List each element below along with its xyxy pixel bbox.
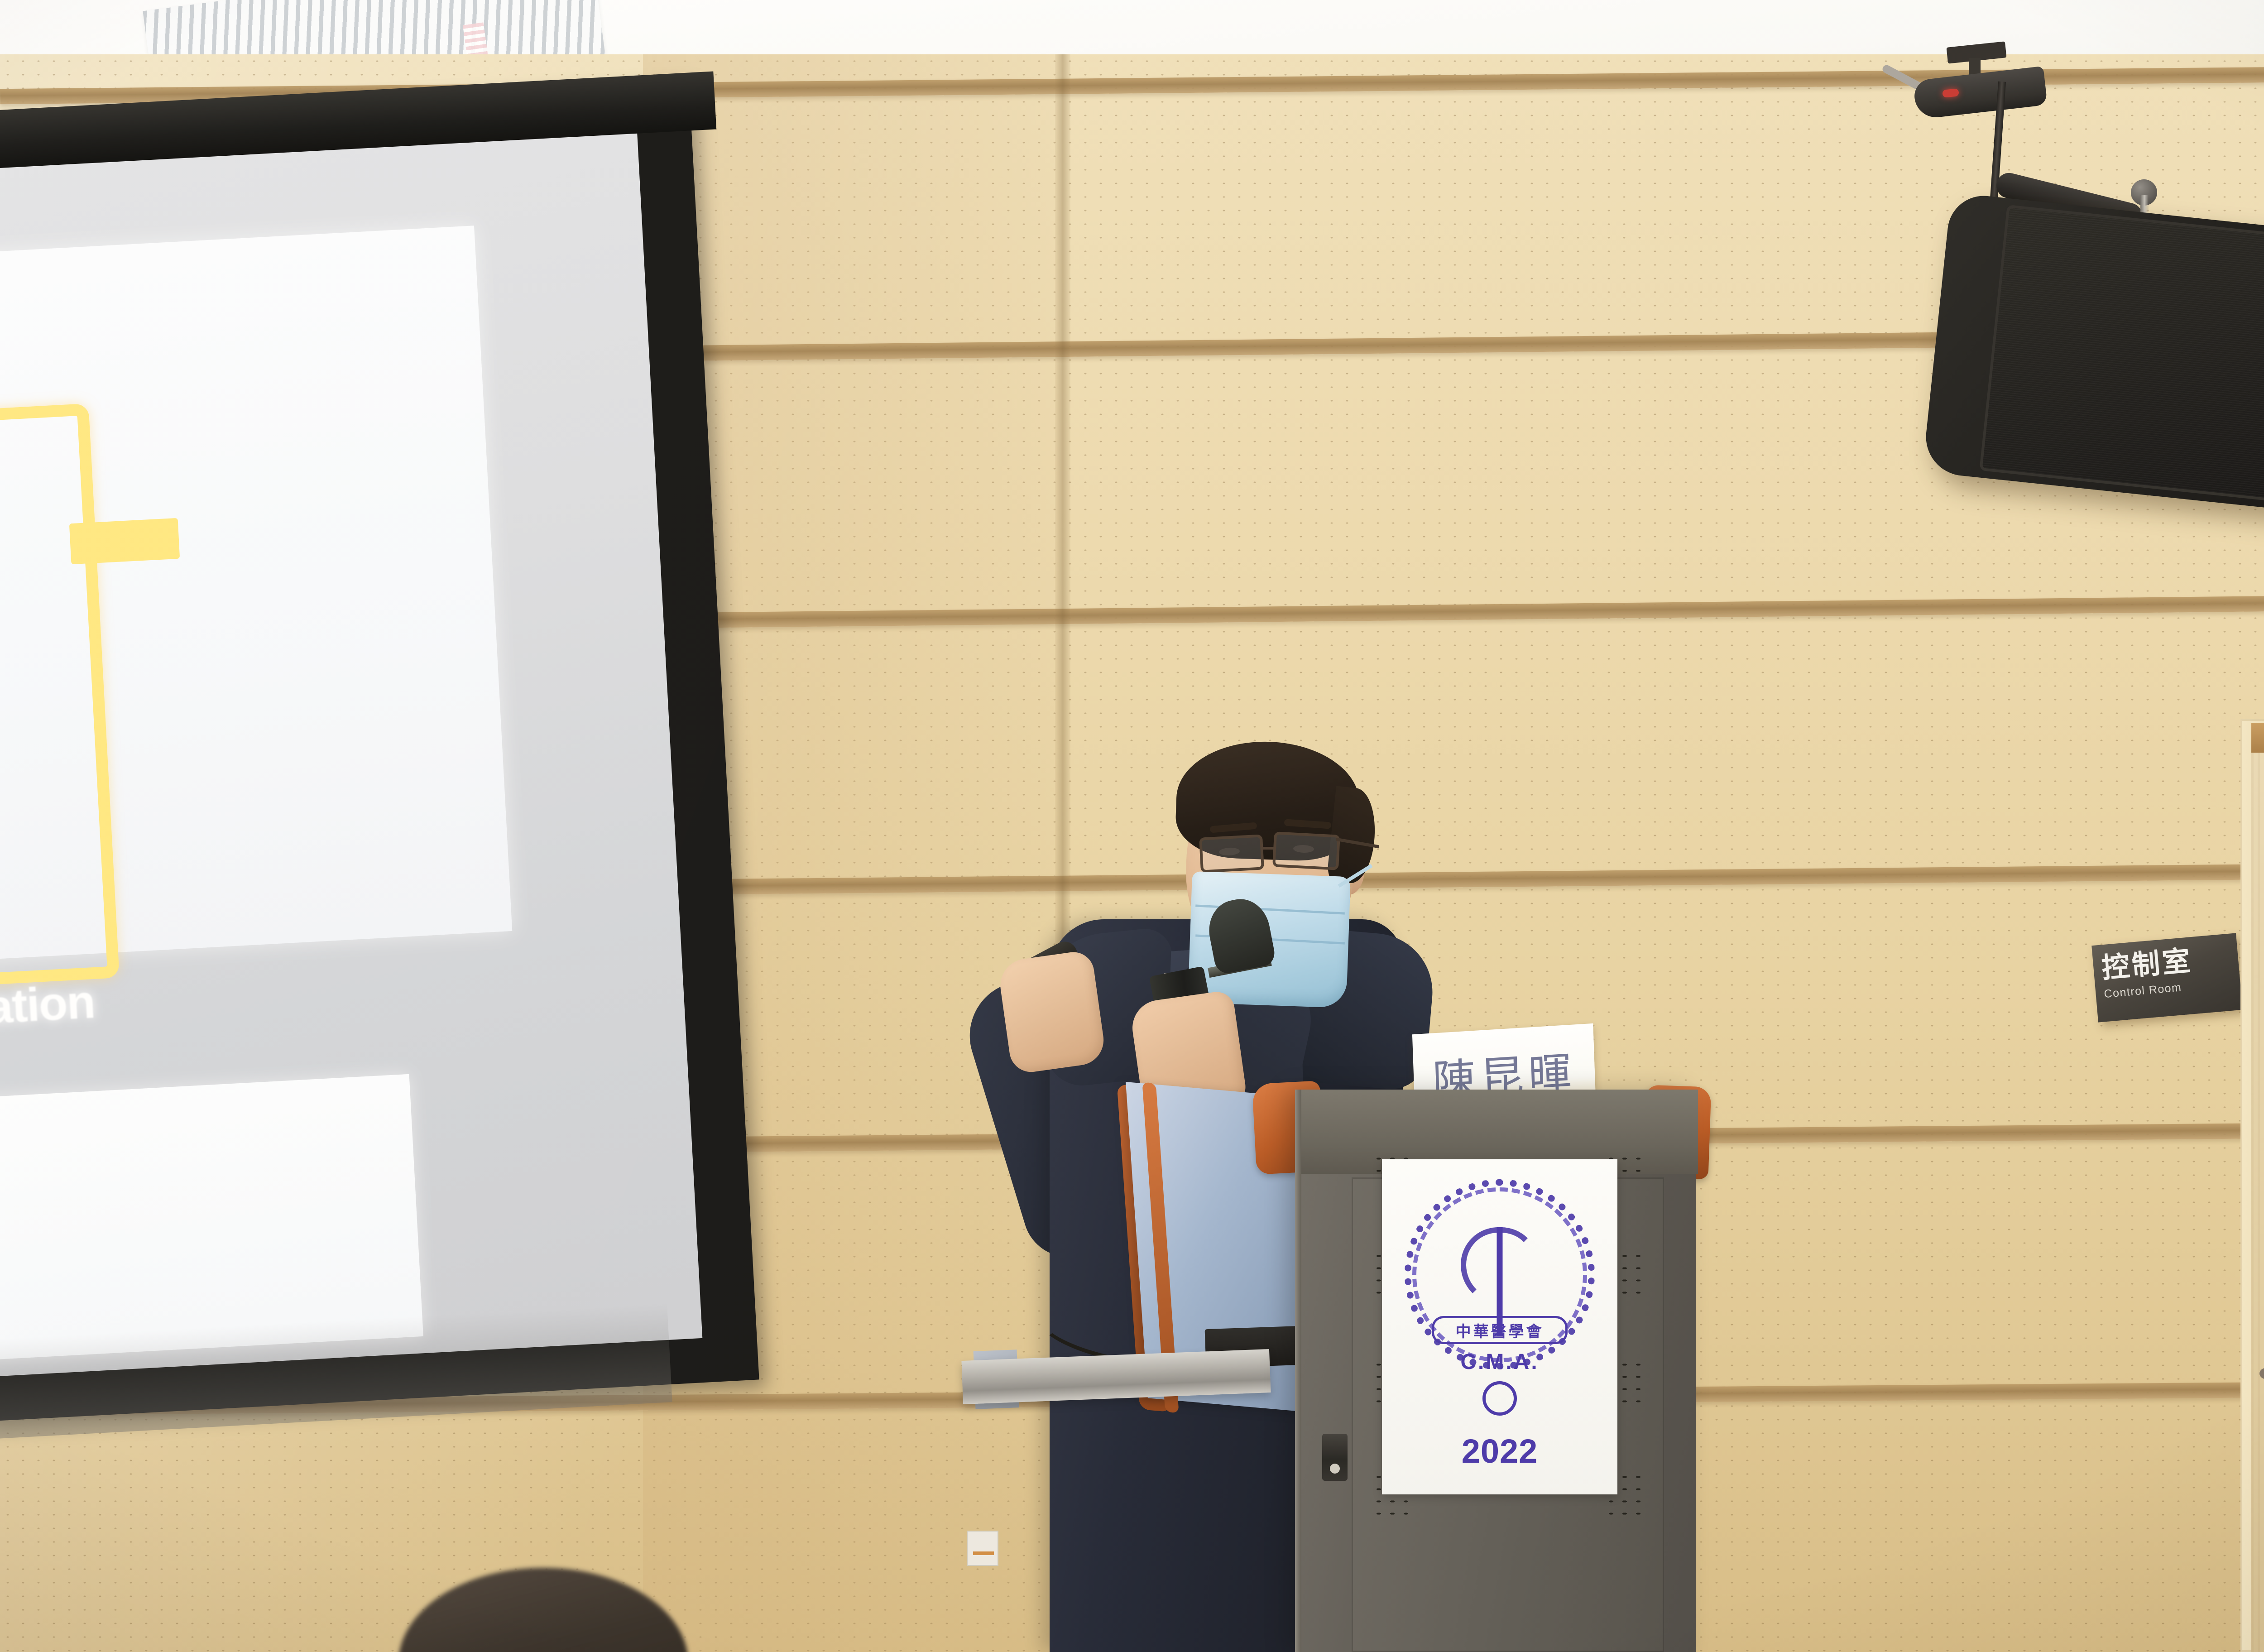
door-header-trim: [2251, 723, 2264, 753]
cma-plum-blossom-icon: [1482, 1381, 1517, 1416]
glasses-bridge: [1262, 847, 1276, 850]
speaker-grille: [1979, 205, 2264, 506]
wall-outlet-plate[interactable]: [967, 1531, 998, 1566]
speaker-hand-holding-remote: [997, 950, 1107, 1075]
cma-year-label: 2022: [1462, 1432, 1538, 1470]
slide-label-chip: [69, 518, 180, 564]
cma-org-plate: 中華醫學會: [1432, 1316, 1568, 1344]
cma-serpent-icon: [1461, 1227, 1539, 1305]
presentation-photo: opagation 控制室 Control Room: [0, 0, 2264, 1652]
cma-org-label: 中華醫學會: [1456, 1319, 1544, 1341]
control-room-sign: 控制室 Control Room: [2091, 933, 2243, 1022]
door-panel[interactable]: [2251, 753, 2264, 1652]
sign-label-zh: 控制室: [2101, 943, 2239, 983]
podium-lock-icon[interactable]: [1322, 1434, 1348, 1481]
cma-abbreviation: C.M.A.: [1460, 1349, 1539, 1374]
podium-left-edge: [1295, 1090, 1301, 1652]
glasses-lens-left: [1199, 834, 1264, 873]
glasses-lens-right: [1272, 831, 1340, 870]
cma-logo-card: 中華醫學會 C.M.A. 2022: [1382, 1159, 1617, 1494]
